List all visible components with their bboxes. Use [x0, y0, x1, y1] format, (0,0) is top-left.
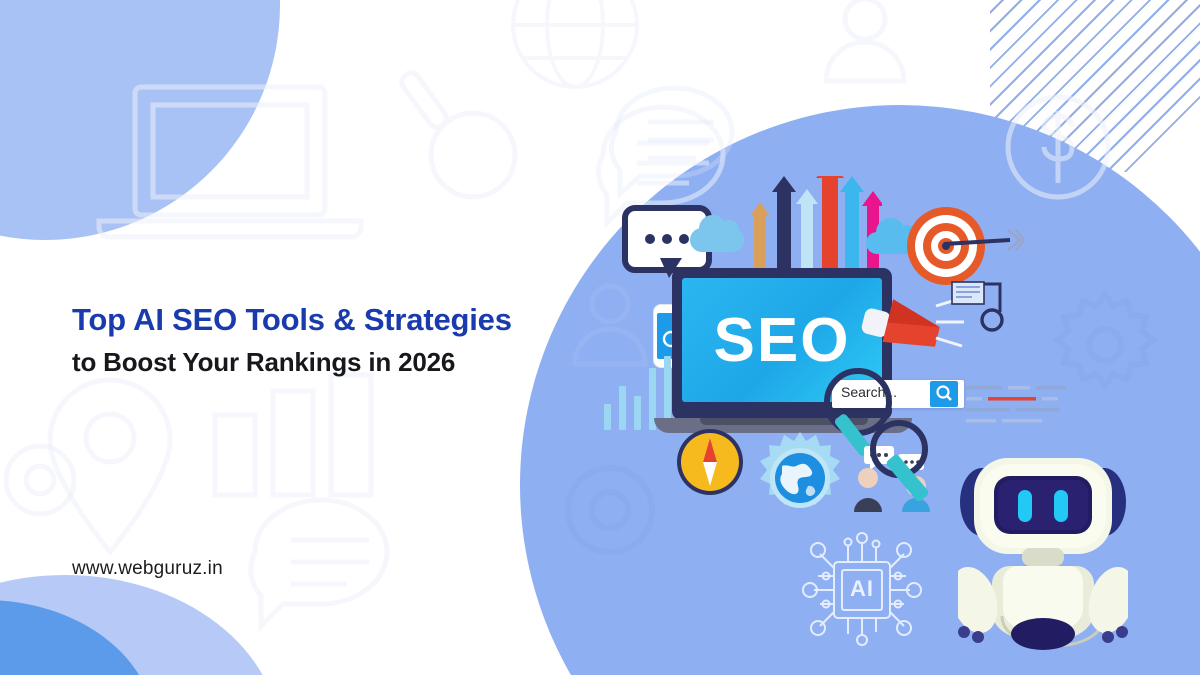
- search-button[interactable]: [930, 381, 958, 407]
- cloud-icon: [690, 228, 744, 252]
- gear-watermark-left: [0, 420, 100, 540]
- user-watermark: [810, 0, 920, 95]
- laptop-watermark: [95, 75, 365, 255]
- dart-icon: [938, 222, 1028, 268]
- search-icon: [930, 381, 958, 407]
- coin-watermark: [1000, 85, 1120, 215]
- headline-secondary: to Boost Your Rankings in 2026: [72, 346, 592, 380]
- robot-icon: [958, 440, 1128, 650]
- bar-chart-watermark: [205, 365, 385, 505]
- headline-primary: Top AI SEO Tools & Strategies: [72, 300, 592, 340]
- speech-bubble-watermark-inside: [600, 80, 750, 210]
- banner-canvas: Top AI SEO Tools & Strategies to Boost Y…: [0, 0, 1200, 675]
- headline-block: Top AI SEO Tools & Strategies to Boost Y…: [72, 300, 592, 379]
- ai-chip-label: AI: [792, 528, 932, 650]
- search-result-lines: [966, 386, 1076, 436]
- gear-watermark-inside-2: [540, 440, 680, 580]
- key-icon: [950, 278, 1012, 334]
- magnifier-watermark: [395, 55, 545, 215]
- speech-bubble-watermark-2: [235, 490, 415, 660]
- compass-icon: [674, 426, 746, 498]
- website-url[interactable]: www.webguruz.in: [72, 558, 223, 580]
- globe-gear-icon: [752, 430, 848, 526]
